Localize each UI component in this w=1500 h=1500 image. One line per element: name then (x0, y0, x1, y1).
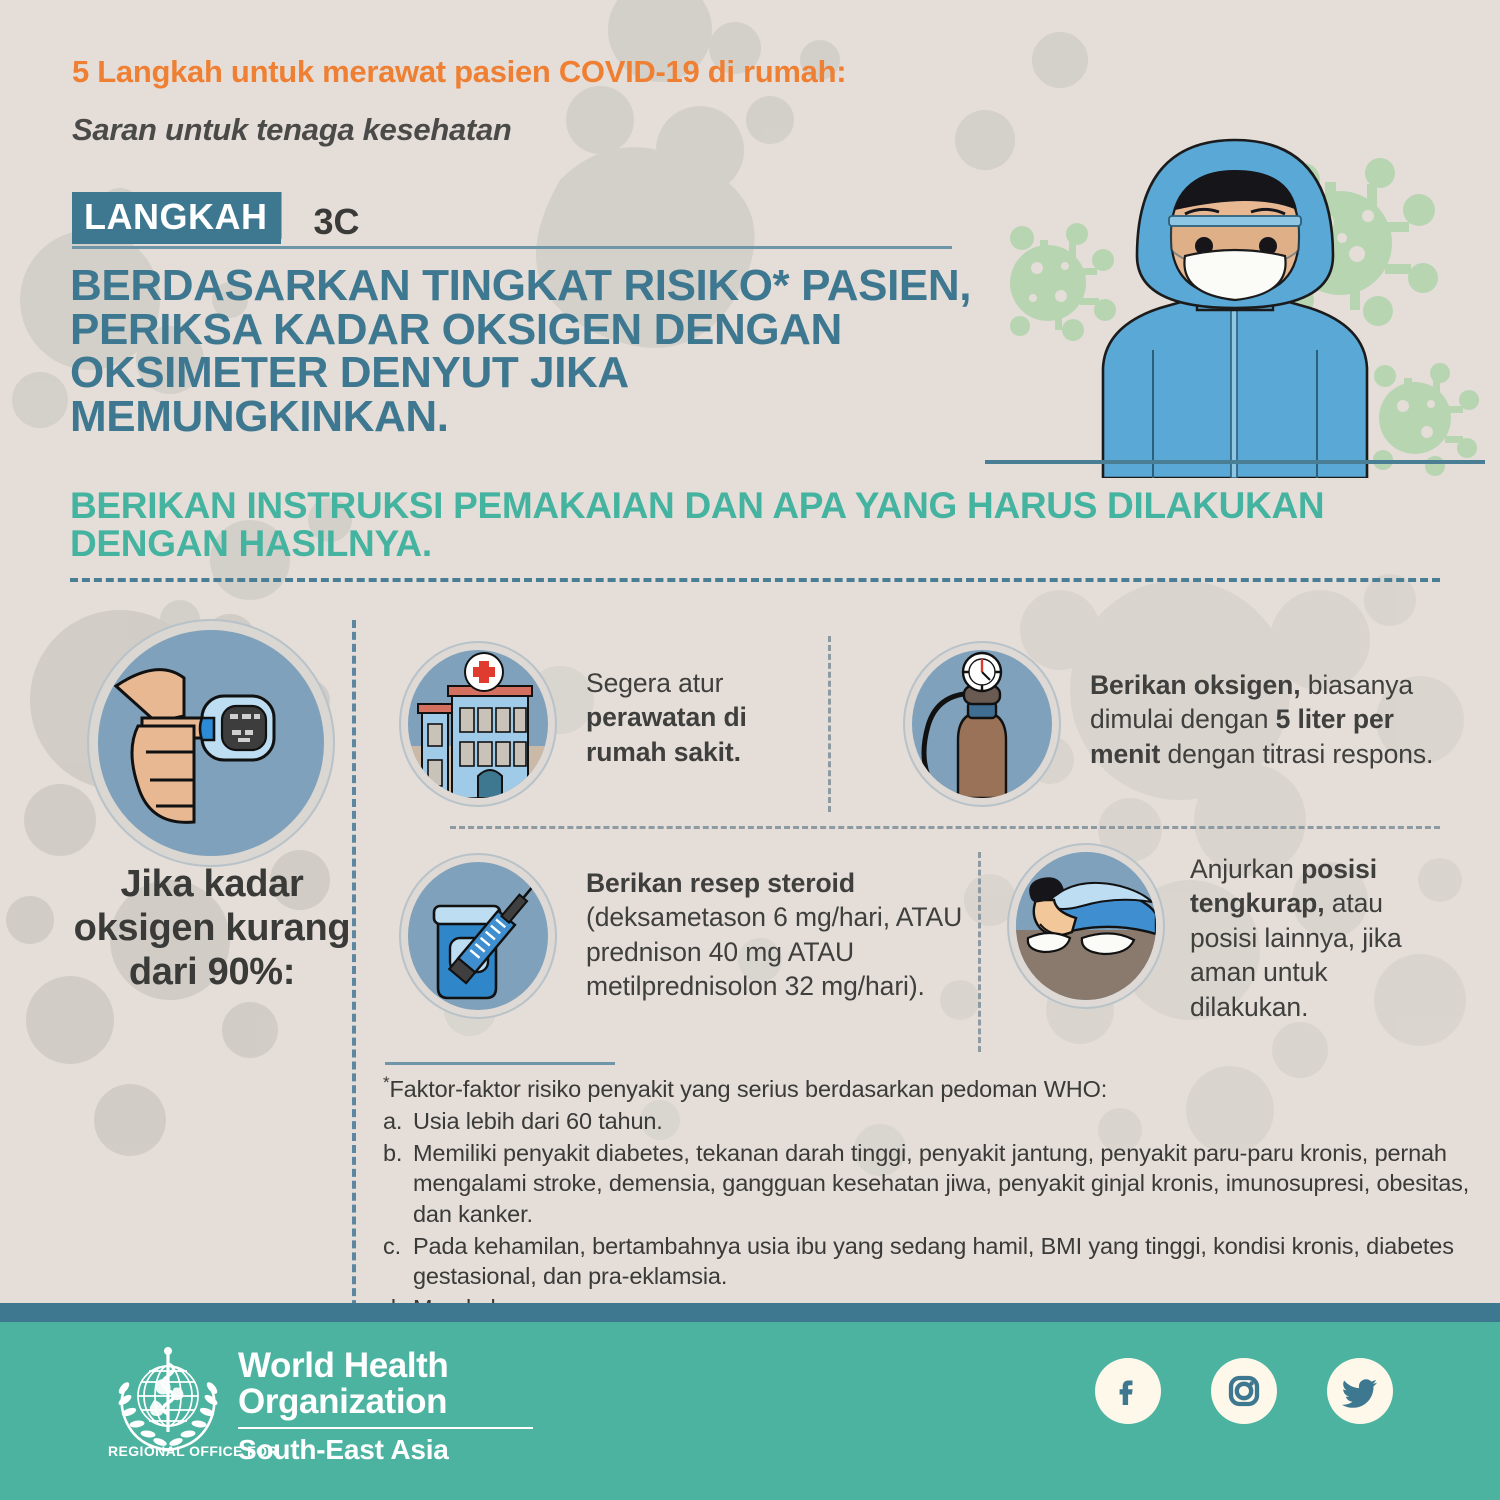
hero-baseline (985, 460, 1485, 464)
headline-primary: BERDASARKAN TINGKAT RISIKO* PASIEN, PERI… (70, 264, 1010, 438)
card-prone-position-text: Anjurkan posisi tengkurap, atau posisi l… (1190, 852, 1446, 1024)
facebook-icon[interactable] (1095, 1358, 1161, 1424)
healthcare-worker-ppe-illustration (985, 118, 1485, 478)
column-dashed-divider (352, 620, 356, 1320)
list-item: b. Memiliki penyakit diabetes, tekanan d… (383, 1138, 1483, 1230)
headline-secondary: BERIKAN INSTRUKSI PEMAKAIAN DAN APA YANG… (70, 487, 1340, 562)
page-subkicker: Saran untuk tenaga kesehatan (72, 112, 512, 148)
pulse-oximeter-on-finger-illustration (98, 630, 324, 856)
card-grid-horizontal-divider (450, 826, 1440, 829)
card-grid-vertical-divider-bottom (978, 852, 981, 1052)
prone-position-patient-icon (1016, 852, 1156, 1000)
page-kicker: 5 Langkah untuk merawat pasien COVID-19 … (72, 54, 846, 90)
card-prone-position: Anjurkan posisi tengkurap, atau posisi l… (1016, 852, 1446, 1024)
who-line-1: World Health (238, 1348, 533, 1384)
footnote-divider (385, 1062, 615, 1065)
step-badge-label: LANGKAH (72, 192, 281, 244)
list-item: a. Usia lebih dari 60 tahun. (383, 1106, 1483, 1137)
card-give-oxygen-text: Berikan oksigen, biasanya dimulai dengan… (1090, 668, 1442, 771)
oxygen-cylinder-icon (912, 650, 1052, 798)
who-wordmark: World Health Organization South-East Asi… (238, 1348, 533, 1466)
twitter-icon[interactable] (1327, 1358, 1393, 1424)
list-item: c. Pada kehamilan, bertambahnya usia ibu… (383, 1231, 1483, 1292)
card-hospital-care-text: Segera atur perawatan di rumah sakit. (586, 666, 808, 769)
card-give-oxygen: Berikan oksigen, biasanya dimulai dengan… (912, 650, 1442, 798)
left-column-caption: Jika kadar oksigen kurang dari 90%: (62, 862, 362, 994)
section-dashed-divider (70, 578, 1440, 582)
footer-accent-band (0, 1303, 1500, 1322)
footnote-text: Pada kehamilan, bertambahnya usia ibu ya… (413, 1231, 1483, 1292)
card-steroid-prescription: Berikan resep steroid (deksametason 6 mg… (408, 862, 968, 1010)
card-grid-vertical-divider-top (828, 636, 831, 812)
footnote-block: *Faktor-faktor risiko penyakit yang seri… (383, 1072, 1483, 1324)
footnote-marker: c. (383, 1231, 413, 1292)
step-number: 3C (313, 204, 359, 244)
footnote-lead: *Faktor-faktor risiko penyakit yang seri… (383, 1072, 1483, 1104)
who-region: South-East Asia (238, 1434, 533, 1466)
vial-and-syringe-icon (408, 862, 548, 1010)
footnote-marker: a. (383, 1106, 413, 1137)
card-hospital-care: Segera atur perawatan di rumah sakit. (408, 650, 808, 798)
footnote-marker: b. (383, 1138, 413, 1230)
footnote-lead-text: Faktor-faktor risiko penyakit yang seriu… (389, 1076, 1107, 1102)
hospital-building-icon (408, 650, 548, 798)
regional-office-label: REGIONAL OFFICE FOR (108, 1443, 278, 1459)
step-divider (72, 246, 952, 249)
step-indicator: LANGKAH 3C (72, 192, 360, 244)
footnote-text: Memiliki penyakit diabetes, tekanan dara… (413, 1138, 1483, 1230)
instagram-icon[interactable] (1211, 1358, 1277, 1424)
who-line-2: Organization (238, 1384, 533, 1420)
footnote-list: a. Usia lebih dari 60 tahun. b. Memiliki… (383, 1106, 1483, 1323)
footnote-text: Usia lebih dari 60 tahun. (413, 1106, 1483, 1137)
social-links (1095, 1358, 1393, 1424)
card-steroid-prescription-text: Berikan resep steroid (deksametason 6 mg… (586, 866, 968, 1004)
who-wordmark-rule (238, 1427, 533, 1429)
